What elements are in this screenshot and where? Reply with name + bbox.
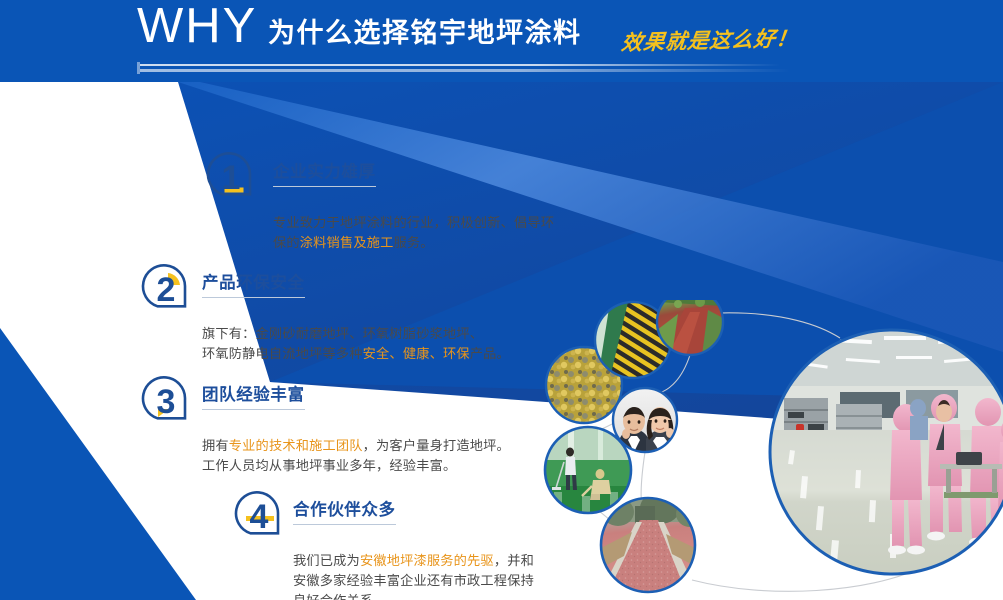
photo-workers-coating-green-floor (545, 427, 631, 513)
badge-number-2-icon: 2 (138, 259, 194, 315)
photo-collage (540, 300, 1003, 600)
badge-number-1-icon: 1 (203, 147, 259, 203)
svg-text:3: 3 (157, 383, 176, 421)
desc-highlight: 涂料销售及施工 (300, 236, 394, 251)
photo-red-garden-path (657, 300, 723, 355)
header-banner: WHY 为什么选择铭宇地坪涂料 效果就是这么好！ (0, 0, 1003, 82)
feature-title-4: 合作伙伴众多 (293, 500, 396, 525)
photo-pink-sports-path (601, 492, 704, 592)
header-rule-top (140, 64, 780, 66)
header-tagline: 效果就是这么好！ (620, 26, 799, 55)
svg-text:2: 2 (157, 271, 176, 309)
header-rule-bottom (140, 69, 790, 72)
desc-text: 拥有 (202, 439, 229, 454)
desc-highlight: 安全、健康、环保 (363, 347, 470, 362)
corner-shape-bottom-left (0, 328, 196, 600)
badge-number-4-icon: 4 (231, 486, 287, 542)
desc-highlight: 专业的技术和施工团队 (229, 439, 363, 454)
header-why-word: WHY (137, 2, 257, 51)
feature-title-3: 团队经验丰富 (202, 385, 305, 410)
desc-text-tail: 产品。 (470, 347, 510, 362)
badge-number-3-icon: 3 (138, 371, 194, 427)
feature-title-1: 企业实力雄厚 (273, 162, 376, 187)
desc-text-tail: 服务。 (394, 236, 434, 251)
header-title-cn: 为什么选择铭宇地坪涂料 (268, 19, 582, 49)
photo-cleanroom-epoxy-floor (770, 330, 1003, 574)
desc-text: 我们已成为 (293, 554, 360, 569)
feature-title-2: 产品环保安全 (202, 273, 305, 298)
feature-desc-1: 专业致力于地坪涂料的行业，积极创新、倡导环 保的涂料销售及施工服务。 (273, 194, 583, 254)
desc-highlight: 安徽地坪漆服务的先驱 (360, 554, 494, 569)
collage-svg (540, 300, 1003, 600)
poster-canvas: WHY 为什么选择铭宇地坪涂料 效果就是这么好！ (0, 0, 1003, 600)
svg-text:4: 4 (250, 498, 269, 536)
svg-text:1: 1 (222, 159, 241, 197)
